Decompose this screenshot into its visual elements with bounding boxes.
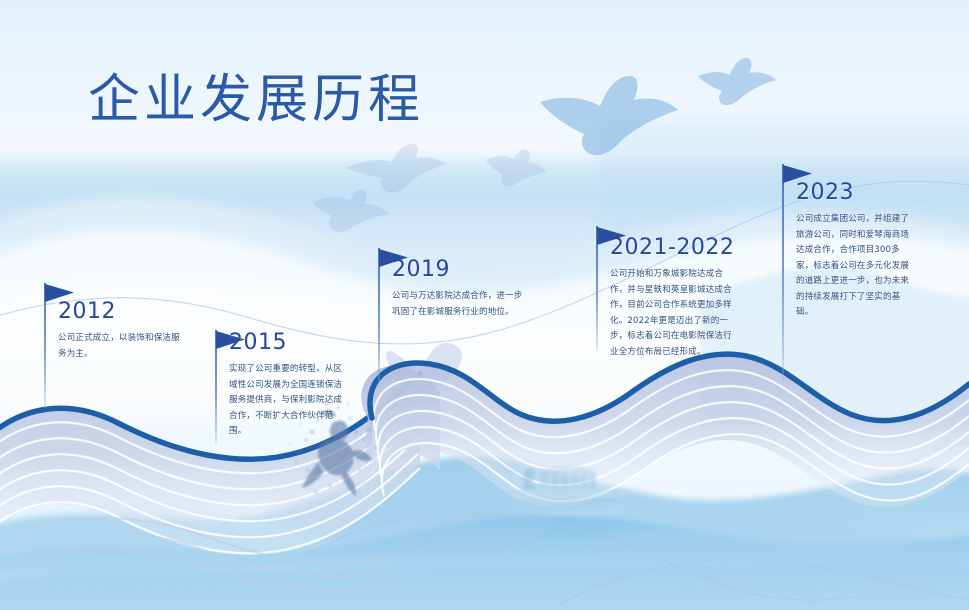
timeline-poster: 2012 公司正式成立，以装饰和保洁服务为主。 2015 实现了公司重要的转型，… [0,0,969,610]
page-title: 企业发展历程 [88,57,424,132]
milestone-description: 实现了公司重要的转型，从区域性公司发展为全国连锁保洁服务提供商，与保利影院达成合… [229,362,347,440]
milestone-description: 公司正式成立，以装饰和保洁服务为主。 [58,331,184,362]
milestone-description: 公司开始和万象城影院达成合作，并与星轶和英皇影城达成合作，目前公司合作系统更加多… [610,267,732,360]
milestone-year: 2015 [229,330,287,355]
flag-pole [782,164,784,382]
milestone-year: 2012 [58,299,116,324]
milestone-year: 2023 [796,180,854,205]
milestone-year: 2021-2022 [610,235,734,260]
milestone-description: 公司成立集团公司，并组建了旅游公司，同时和爱琴海商场达成合作，合作项目300多家… [796,212,914,321]
milestone-description: 公司与万达影院达成合作，进一步巩固了在影城服务行业的地位。 [392,289,526,320]
milestone-year: 2019 [392,257,450,282]
